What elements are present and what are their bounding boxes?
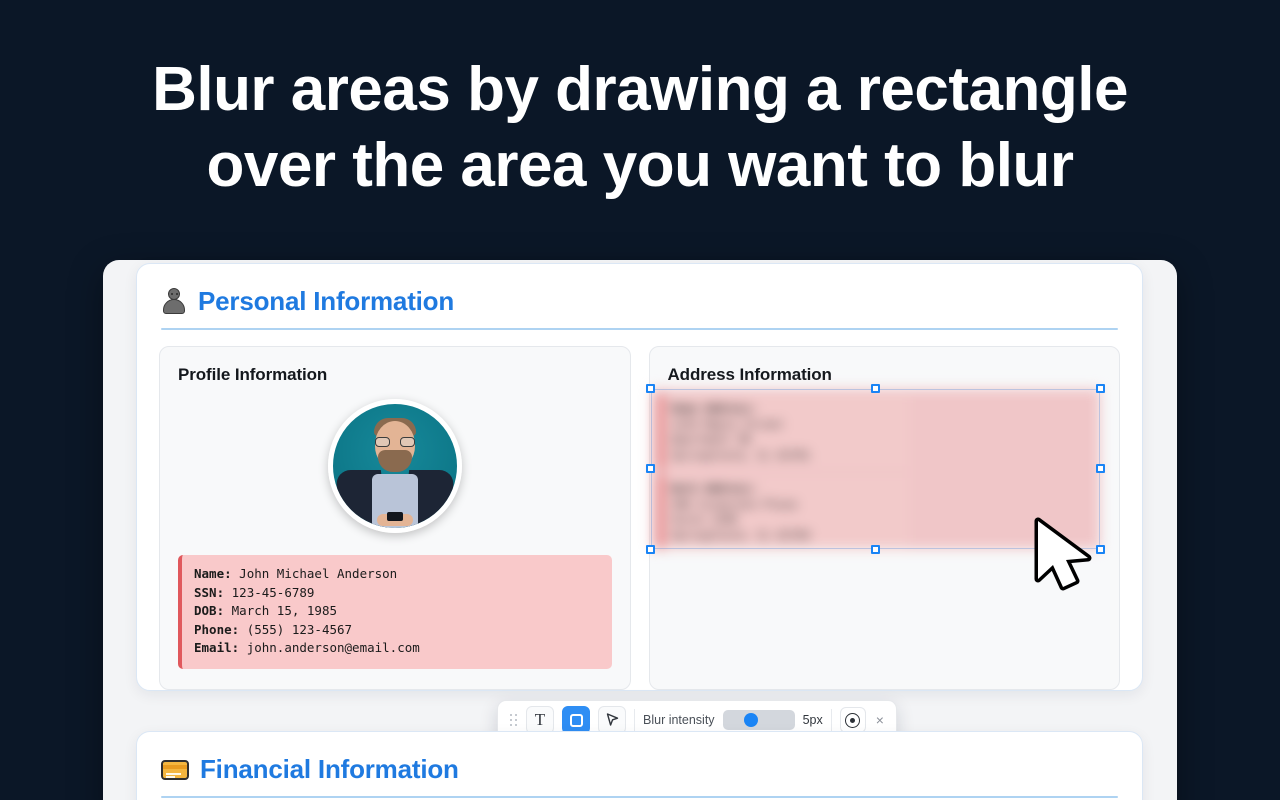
info-key: Email: [194,640,239,655]
section-card-financial: Financial Information [136,731,1143,800]
blur-intensity-value: 5px [803,713,823,727]
resize-handle-middle-right[interactable] [1096,464,1105,473]
section-title-financial: Financial Information [200,754,459,785]
info-key: SSN: [194,585,224,600]
info-value: John Michael Anderson [239,566,397,581]
text-tool-icon: T [535,710,545,730]
toolbar-separator [634,709,635,731]
credit-card-icon [161,760,189,780]
section-divider-financial [161,796,1118,798]
slider-knob[interactable] [744,713,758,727]
text-tool-button[interactable]: T [526,706,554,734]
target-icon [845,713,860,728]
person-icon [161,288,187,315]
info-row: Phone: (555) 123-4567 [194,621,600,640]
cursor-tool-button[interactable] [598,706,626,734]
panel-title-address: Address Information [668,365,1102,385]
resize-handle-top-right[interactable] [1096,384,1105,393]
info-key: Phone: [194,622,239,637]
avatar-wrapper [178,399,612,533]
headline-line-2: over the area you want to blur [0,128,1280,204]
resize-handle-bottom-left[interactable] [646,545,655,554]
section-header-personal: Personal Information [137,264,1142,317]
panel-title-profile: Profile Information [178,365,612,385]
page-title: Blur areas by drawing a rectangle over t… [0,52,1280,203]
toolbar-separator [831,709,832,731]
rectangle-tool-icon [570,714,583,727]
close-toolbar-button[interactable]: × [874,713,886,727]
resize-handle-top-center[interactable] [871,384,880,393]
info-row: Email: john.anderson@email.com [194,639,600,658]
section-header-financial: Financial Information [137,732,1142,785]
resize-handle-top-left[interactable] [646,384,655,393]
blur-intensity-slider[interactable] [723,710,795,730]
screenshot-root: Blur areas by drawing a rectangle over t… [0,0,1280,800]
sensitive-info-block: Name: John Michael Anderson SSN: 123-45-… [178,555,612,669]
info-row: DOB: March 15, 1985 [194,602,600,621]
blur-intensity-label: Blur intensity [643,713,715,727]
target-button[interactable] [840,707,866,733]
info-key: Name: [194,566,232,581]
info-key: DOB: [194,603,224,618]
headline-line-1: Blur areas by drawing a rectangle [152,55,1128,124]
panel-profile-information: Profile Information [159,346,631,690]
info-row: Name: John Michael Anderson [194,565,600,584]
info-value: 123-45-6789 [232,585,315,600]
drag-handle-icon[interactable] [508,710,518,730]
info-value: john.anderson@email.com [247,640,420,655]
avatar [328,399,462,533]
info-value: (555) 123-4567 [247,622,352,637]
mouse-pointer-icon [1032,517,1098,593]
cursor-tool-icon [606,713,619,727]
info-value: March 15, 1985 [232,603,337,618]
info-row: SSN: 123-45-6789 [194,584,600,603]
resize-handle-bottom-center[interactable] [871,545,880,554]
resize-handle-middle-left[interactable] [646,464,655,473]
section-title-personal: Personal Information [198,286,454,317]
rectangle-tool-button[interactable] [562,706,590,734]
